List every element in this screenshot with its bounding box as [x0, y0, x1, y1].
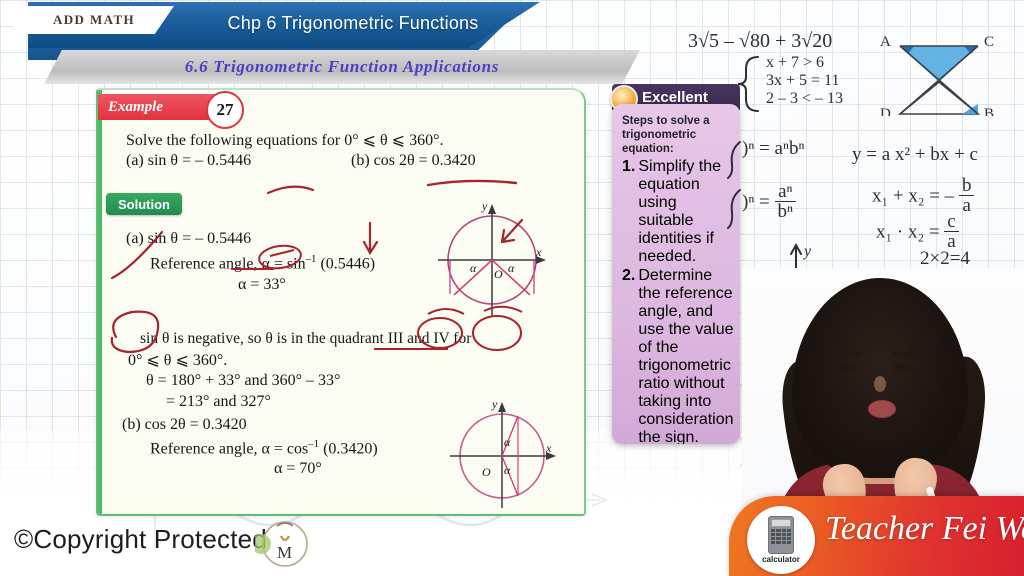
handwritten-index-law-1: )ⁿ = aⁿbⁿ [742, 138, 804, 160]
solution-label: Solution [118, 197, 170, 212]
handwritten-surd-expression: 3√5 – √80 + 3√20 [688, 30, 832, 53]
index-law-2-lhs: )ⁿ = [742, 192, 770, 213]
solution-b-line3: α = 70° [274, 460, 322, 478]
eye-right [894, 364, 913, 372]
eye-left [838, 364, 857, 372]
solution-a-line7: = 213° and 327° [166, 393, 271, 411]
solution-a-line1: (a) sin θ = – 0.5446 [126, 230, 251, 248]
chapter-title: Chp 6 Trigonometric Functions [188, 8, 518, 38]
solution-a-line2-text: Reference angle, α = sin [150, 255, 306, 272]
excellent-step-1-num: 1. [622, 158, 635, 266]
copyright-logo-letter: M [277, 543, 292, 562]
solution-a-line5: 0° ⩽ θ ⩽ 360°. [128, 350, 227, 370]
handwritten-system-line2: 3x + 5 = 11 [766, 72, 839, 90]
section-title-banner: 6.6 Trigonometric Function Applications [44, 50, 640, 84]
solution-a-line2-sup: –1 [306, 253, 317, 265]
teacher-name-banner: calculator Teacher Fei Wen [729, 496, 1024, 576]
calculator-icon-label: calculator [762, 555, 800, 564]
copyright-text: ©Copyright Protected [14, 524, 267, 555]
sum-of-roots-lhs: x₁ + x₂ = – [872, 186, 954, 207]
handwritten-system-line1: x + 7 > 6 [766, 54, 824, 72]
figure-label-D: D [880, 106, 891, 116]
solution-b-line2-sup: –1 [308, 438, 319, 450]
excellent-panel: Excellent Steps to solve a trigonometric… [606, 84, 740, 450]
question-part-a: (a) sin θ = – 0.5446 [126, 152, 251, 170]
excellent-panel-body: Steps to solve a trigonometric equation:… [612, 104, 740, 444]
solution-b-line2: Reference angle, α = cos–1 (0.3420) [150, 438, 378, 458]
example-label: Example [108, 99, 163, 116]
solution-a-line2: Reference angle, α = sin–1 (0.5446) [150, 253, 375, 273]
handwritten-system-line3: 2 – 3 < – 13 [766, 90, 843, 108]
calculator-keys [771, 529, 791, 544]
handwritten-sum-of-roots: x₁ + x₂ = – b a [872, 176, 974, 216]
subject-tag-label: ADD MATH [53, 12, 135, 28]
solution-badge: Solution [106, 193, 182, 215]
example-number-badge: 27 [206, 91, 244, 129]
handwritten-index-law-2: )ⁿ = aⁿ bⁿ [742, 182, 796, 222]
nose [874, 376, 886, 392]
question-intro: Solve the following equations for 0° ⩽ θ… [126, 130, 443, 150]
mouth [868, 400, 896, 418]
sum-of-roots-numerator: b [959, 176, 975, 196]
solution-b-line1: (b) cos 2θ = 0.3420 [122, 416, 247, 434]
excellent-step-2-num: 2. [622, 267, 635, 444]
section-title-label: 6.6 Trigonometric Function Applications [185, 57, 499, 77]
copyright-logo: M [255, 518, 311, 568]
sum-of-roots-fraction: b a [959, 176, 975, 216]
figure-label-B: B [984, 106, 994, 116]
excellent-tab-label: Excellent [642, 89, 708, 106]
subject-tag: ADD MATH [14, 6, 174, 34]
excellent-step-2-text: Determine the reference angle, and use t… [638, 267, 733, 444]
figure-label-A: A [880, 34, 891, 50]
slide-header: ADD MATH Chp 6 Trigonometric Functions 6… [0, 0, 660, 96]
triangle-figure: A C D B [878, 30, 1008, 116]
teacher-name-label: Teacher Fei Wen [825, 510, 1024, 548]
excellent-intro: Steps to solve a trigonometric equation: [622, 114, 732, 156]
calculator-icon: calculator [747, 506, 815, 574]
index-law-2-fraction: aⁿ bⁿ [775, 182, 796, 222]
handwritten-product-of-roots: x₁ · x₂ = c a [876, 212, 959, 252]
page-left-accent-bar [98, 90, 102, 514]
solution-a-line3: α = 33° [238, 276, 286, 294]
excellent-step-1: 1. Simplify the equation using suitable … [622, 158, 732, 266]
product-of-roots-numerator: c [944, 212, 958, 232]
handwritten-quadratic-equation: y = a x² + bx + c [852, 144, 978, 166]
textbook-page: Example 27 Solve the following equations… [96, 88, 586, 516]
solution-a-line2-end: (0.5446) [316, 255, 375, 272]
calculator-body [768, 516, 794, 554]
solution-a-line4: sin θ is negative, so θ is in the quadra… [140, 330, 471, 348]
figure-label-C: C [984, 34, 994, 50]
solution-a-line6: θ = 180° + 33° and 360° – 33° [146, 372, 340, 390]
handwritten-multiplication: 2×2=4 [920, 248, 970, 270]
product-of-roots-lhs: x₁ · x₂ = [876, 222, 940, 243]
excellent-step-2: 2. Determine the reference angle, and us… [622, 267, 732, 444]
index-law-2-numerator: aⁿ [775, 182, 796, 202]
calculator-screen [771, 519, 791, 527]
product-of-roots-fraction: c a [944, 212, 958, 252]
index-law-2-denominator: bⁿ [775, 202, 796, 221]
solution-b-line2-end: (0.3420) [319, 440, 378, 457]
solution-b-line2-text: Reference angle, α = cos [150, 440, 308, 457]
sum-of-roots-denominator: a [959, 196, 975, 215]
question-part-b: (b) cos 2θ = 0.3420 [351, 152, 476, 170]
excellent-step-1-text: Simplify the equation using suitable ide… [638, 158, 732, 266]
screen-root: S = a² x – y √9 = 3 a° = 1 a¹ = a (m+n) … [0, 0, 1024, 576]
